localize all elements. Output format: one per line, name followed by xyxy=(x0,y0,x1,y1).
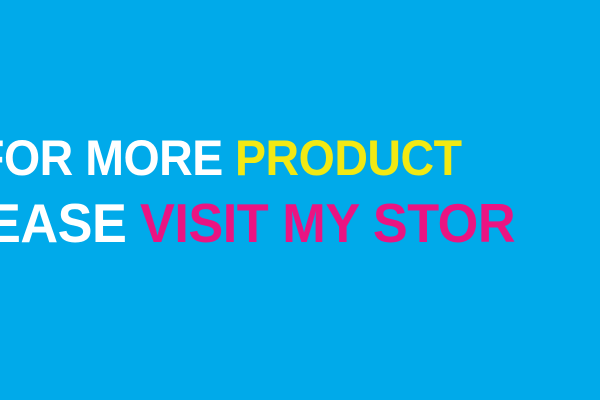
banner-headline-line-2: EASEVISIT MY STOR xyxy=(0,196,515,251)
headline-segment-yellow-product: PRODUCT xyxy=(235,130,462,186)
promo-banner: FOR MOREPRODUCT EASEVISIT MY STOR xyxy=(0,0,600,400)
banner-headline-line-1: FOR MOREPRODUCT xyxy=(0,133,462,183)
headline-segment-white-for-more: FOR MORE xyxy=(0,130,223,186)
banner-text-block: FOR MOREPRODUCT EASEVISIT MY STOR xyxy=(0,0,600,400)
headline-segment-white-ease: EASE xyxy=(0,192,126,254)
headline-segment-magenta-visit-my-store: VISIT MY STOR xyxy=(140,192,515,254)
